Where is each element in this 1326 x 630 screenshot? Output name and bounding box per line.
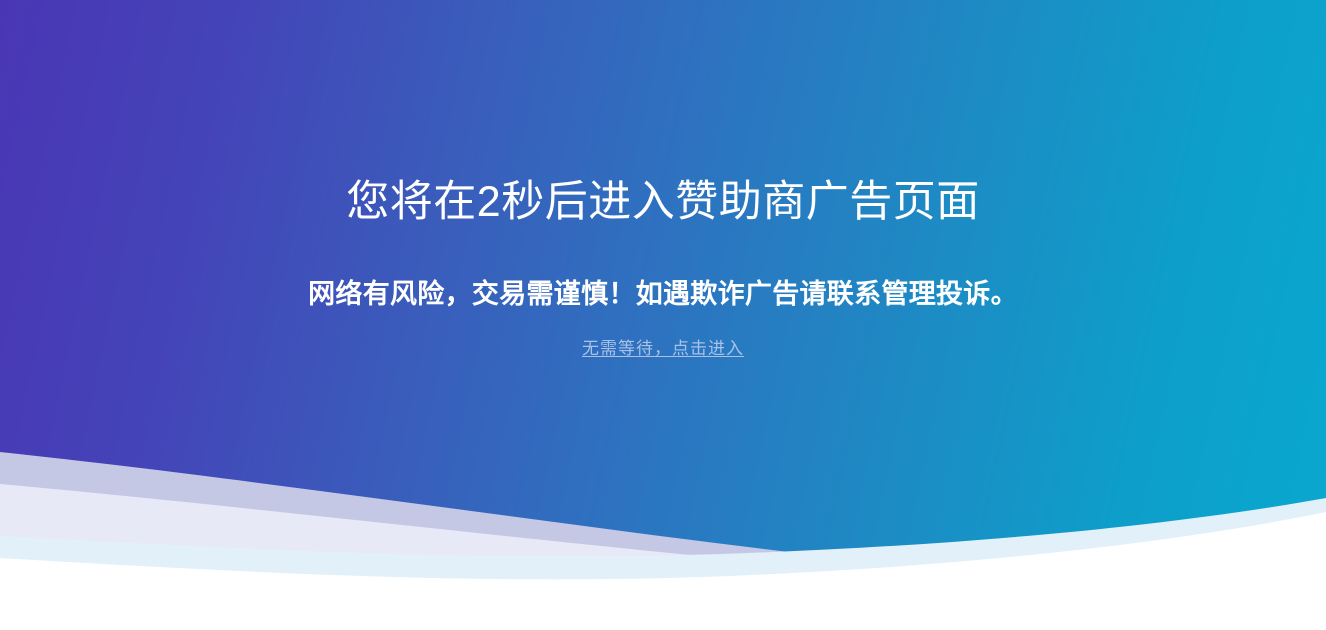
countdown-headline: 您将在2秒后进入赞助商广告页面 (0, 178, 1326, 227)
risk-warning-text: 网络有风险，交易需谨慎！如遇欺诈广告请联系管理投诉。 (0, 278, 1326, 310)
redirect-interstitial-page: 您将在2秒后进入赞助商广告页面 网络有风险，交易需谨慎！如遇欺诈广告请联系管理投… (0, 0, 1326, 630)
skip-wait-link[interactable]: 无需等待，点击进入 (582, 338, 744, 360)
decorative-wave-graphic (0, 450, 1326, 630)
skip-link-container: 无需等待，点击进入 (0, 338, 1326, 360)
